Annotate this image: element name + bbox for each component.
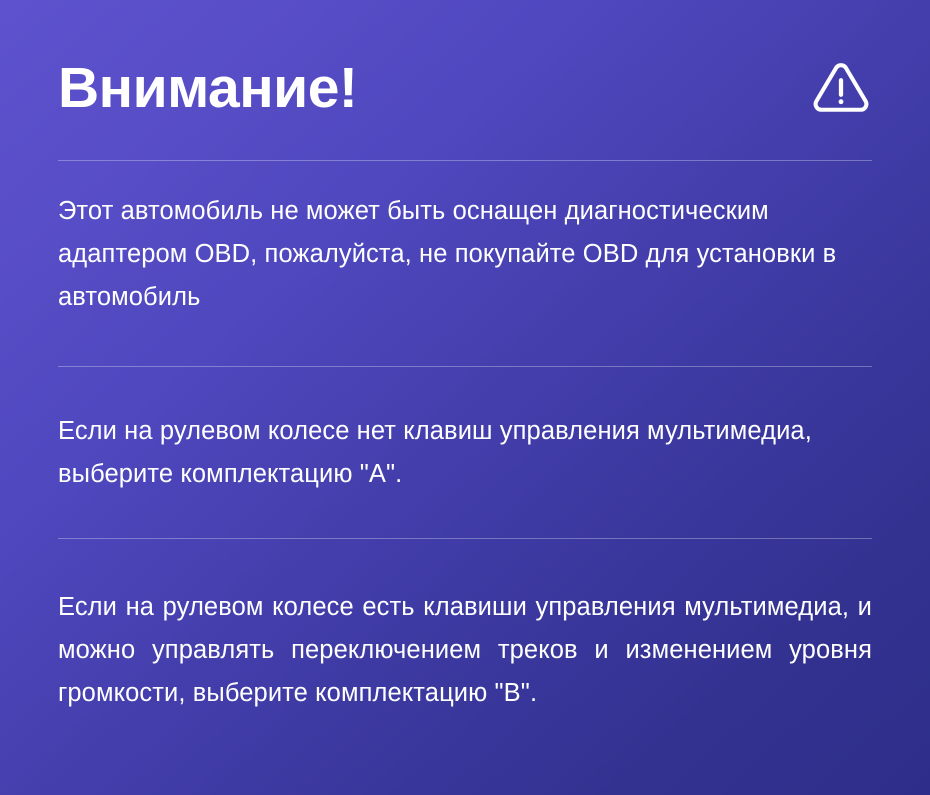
section-obd-notice: Этот автомобиль не может быть оснащен ди… [58,161,872,366]
section-obd-notice-text: Этот автомобиль не может быть оснащен ди… [58,190,872,319]
warning-triangle-icon [810,42,872,118]
warning-banner: Внимание! Этот автомобиль не может быть … [0,0,930,795]
banner-header: Внимание! [58,0,872,160]
page-title: Внимание! [58,44,357,117]
section-variant-a-text: Если на рулевом колесе нет клавиш управл… [58,410,872,496]
section-variant-a: Если на рулевом колесе нет клавиш управл… [58,367,872,538]
section-variant-b: Если на рулевом колесе есть клавиши упра… [58,539,872,755]
section-variant-b-text: Если на рулевом колесе есть клавиши упра… [58,586,872,715]
